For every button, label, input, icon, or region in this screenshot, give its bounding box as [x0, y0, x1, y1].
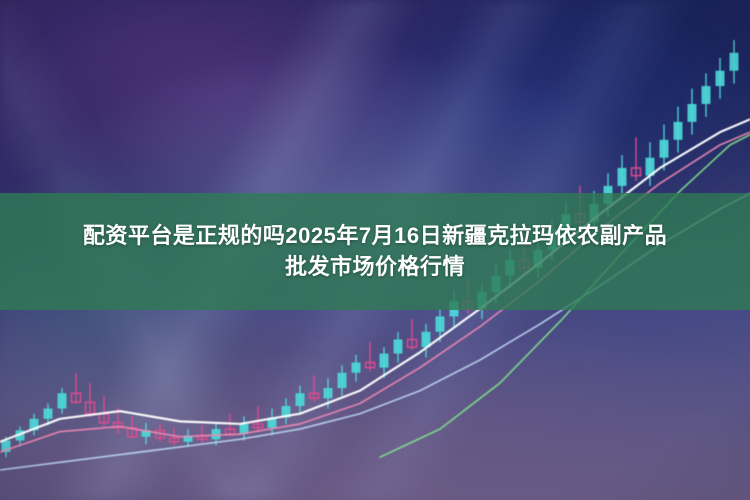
page-title-line-1: 配资平台是正规的吗2025年7月16日新疆克拉玛依农副产品 [25, 221, 725, 251]
page-title: 配资平台是正规的吗2025年7月16日新疆克拉玛依农副产品 批发市场价格行情 [25, 221, 725, 282]
green-headline-band: 配资平台是正规的吗2025年7月16日新疆克拉玛依农副产品 批发市场价格行情 [0, 193, 750, 310]
banner-image: 配资平台是正规的吗2025年7月16日新疆克拉玛依农副产品 批发市场价格行情 [0, 0, 750, 500]
page-title-line-2: 批发市场价格行情 [25, 252, 725, 282]
